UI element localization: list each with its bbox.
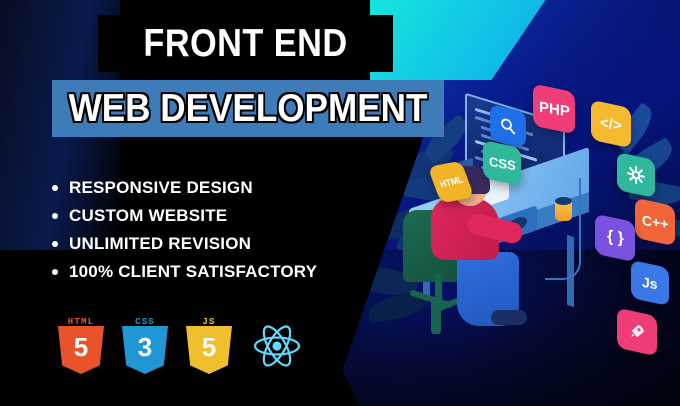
list-item: UNLIMITED REVISION xyxy=(52,232,392,255)
css3-logo-label: CSS xyxy=(122,317,168,327)
rocket-card xyxy=(617,308,657,357)
javascript-logo: JS 5 xyxy=(186,318,232,374)
html5-numeral: 5 xyxy=(58,332,104,363)
bullet-dot-icon xyxy=(52,213,58,219)
feature-label: UNLIMITED REVISION xyxy=(69,234,251,254)
feature-label: CUSTOM WEBSITE xyxy=(69,206,227,226)
js-card: Js xyxy=(631,260,669,306)
javascript-logo-label: JS xyxy=(186,317,232,327)
js-card-label: Js xyxy=(642,274,658,292)
code-card: </> xyxy=(591,100,631,149)
html5-logo: HTML 5 xyxy=(58,318,104,374)
bullet-dot-icon xyxy=(52,241,58,247)
cpp-card: C++ xyxy=(635,198,675,247)
braces-card-label: { } xyxy=(607,228,624,249)
feature-label: 100% CLIENT SATISFACTORY xyxy=(69,262,317,282)
react-atom-icon xyxy=(250,319,304,373)
list-item: RESPONSIVE DESIGN xyxy=(52,176,392,199)
list-item: 100% CLIENT SATISFACTORY xyxy=(52,260,392,283)
braces-card: { } xyxy=(595,214,635,263)
magnifier-icon xyxy=(499,115,517,137)
page-title: FRONT END xyxy=(116,15,376,72)
feature-list: RESPONSIVE DESIGN CUSTOM WEBSITE UNLIMIT… xyxy=(52,176,392,288)
gear-card xyxy=(617,152,655,198)
css3-numeral: 3 xyxy=(122,332,168,363)
front-end-web-development-banner: PHP </> CSS HTML xyxy=(0,0,680,406)
css3-logo: CSS 3 xyxy=(122,318,168,374)
technology-logo-row: HTML 5 CSS 3 JS 5 xyxy=(58,318,304,374)
gear-icon xyxy=(626,163,646,187)
list-item: CUSTOM WEBSITE xyxy=(52,204,392,227)
bullet-dot-icon xyxy=(52,269,58,275)
javascript-numeral: 5 xyxy=(186,332,232,363)
css-card-label: CSS xyxy=(489,153,516,172)
html5-logo-label: HTML xyxy=(58,317,104,327)
react-logo xyxy=(250,319,304,373)
monitor-cable xyxy=(545,178,581,280)
chair-leg-3 xyxy=(431,300,441,334)
person-shoe xyxy=(491,310,527,325)
php-card-label: PHP xyxy=(539,98,570,120)
cpp-card-label: C++ xyxy=(642,212,668,232)
rocket-icon xyxy=(627,320,647,344)
html-card-label: HTML xyxy=(438,174,464,190)
bullet-dot-icon xyxy=(52,185,58,191)
code-card-label: </> xyxy=(600,114,622,134)
page-subtitle: WEB DEVELOPMENT xyxy=(72,80,425,137)
feature-label: RESPONSIVE DESIGN xyxy=(69,178,253,198)
php-card: PHP xyxy=(533,84,575,135)
